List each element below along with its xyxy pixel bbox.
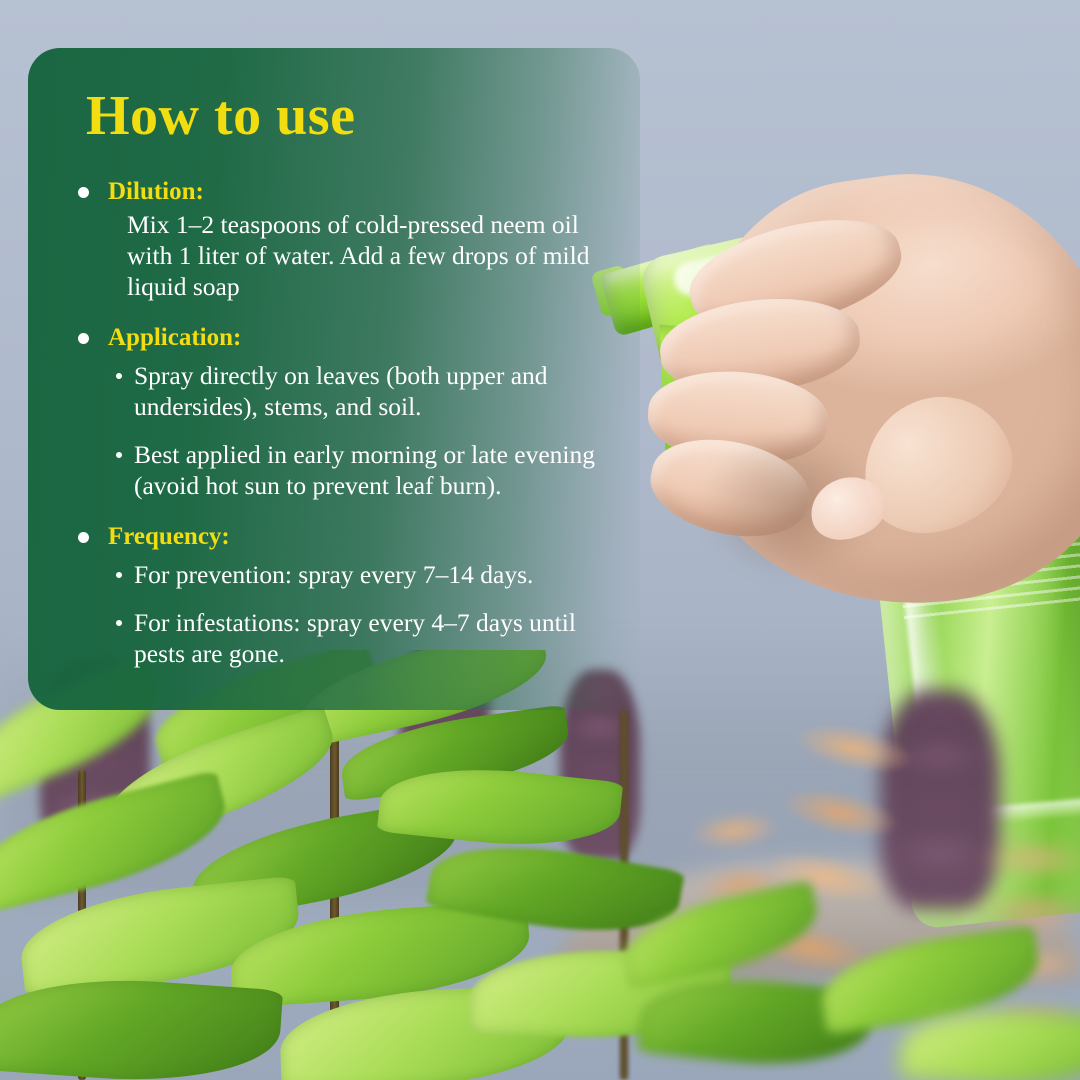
- basil-plants-icon: [0, 650, 1080, 1080]
- bullet-icon: [78, 333, 89, 344]
- section-application: Application: Spray directly on leaves (b…: [60, 324, 612, 501]
- page-title: How to use: [86, 88, 612, 144]
- section-heading: Frequency:: [78, 523, 612, 552]
- how-to-use-panel: How to use Dilution: Mix 1–2 teaspoons o…: [28, 48, 640, 710]
- section-label: Application:: [108, 324, 241, 353]
- section-label: Dilution:: [108, 178, 204, 207]
- section-frequency: Frequency: For prevention: spray every 7…: [60, 523, 612, 669]
- sub-bullet-icon: [116, 452, 122, 458]
- bullet-icon: [78, 532, 89, 543]
- list-item: For infestations: spray every 4–7 days u…: [116, 607, 612, 669]
- spacer: [60, 422, 612, 432]
- list-item: For prevention: spray every 7–14 days.: [116, 559, 612, 590]
- section-dilution: Dilution: Mix 1–2 teaspoons of cold-pres…: [60, 178, 612, 302]
- section-heading: Dilution:: [78, 178, 612, 207]
- sub-bullet-icon: [116, 373, 122, 379]
- sub-item-text: For infestations: spray every 4–7 days u…: [134, 607, 612, 669]
- sub-item-text: Spray directly on leaves (both upper and…: [134, 360, 612, 422]
- list-item: Spray directly on leaves (both upper and…: [116, 360, 612, 422]
- sub-item-text: For prevention: spray every 7–14 days.: [134, 559, 533, 590]
- bullet-icon: [78, 187, 89, 198]
- section-paragraph: Mix 1–2 teaspoons of cold-pressed neem o…: [127, 209, 612, 302]
- section-heading: Application:: [78, 324, 612, 353]
- list-item: Best applied in early morning or late ev…: [116, 439, 612, 501]
- sub-item-text: Best applied in early morning or late ev…: [134, 439, 612, 501]
- sub-bullet-icon: [116, 620, 122, 626]
- sub-bullet-icon: [116, 572, 122, 578]
- spacer: [60, 590, 612, 600]
- section-label: Frequency:: [108, 523, 230, 552]
